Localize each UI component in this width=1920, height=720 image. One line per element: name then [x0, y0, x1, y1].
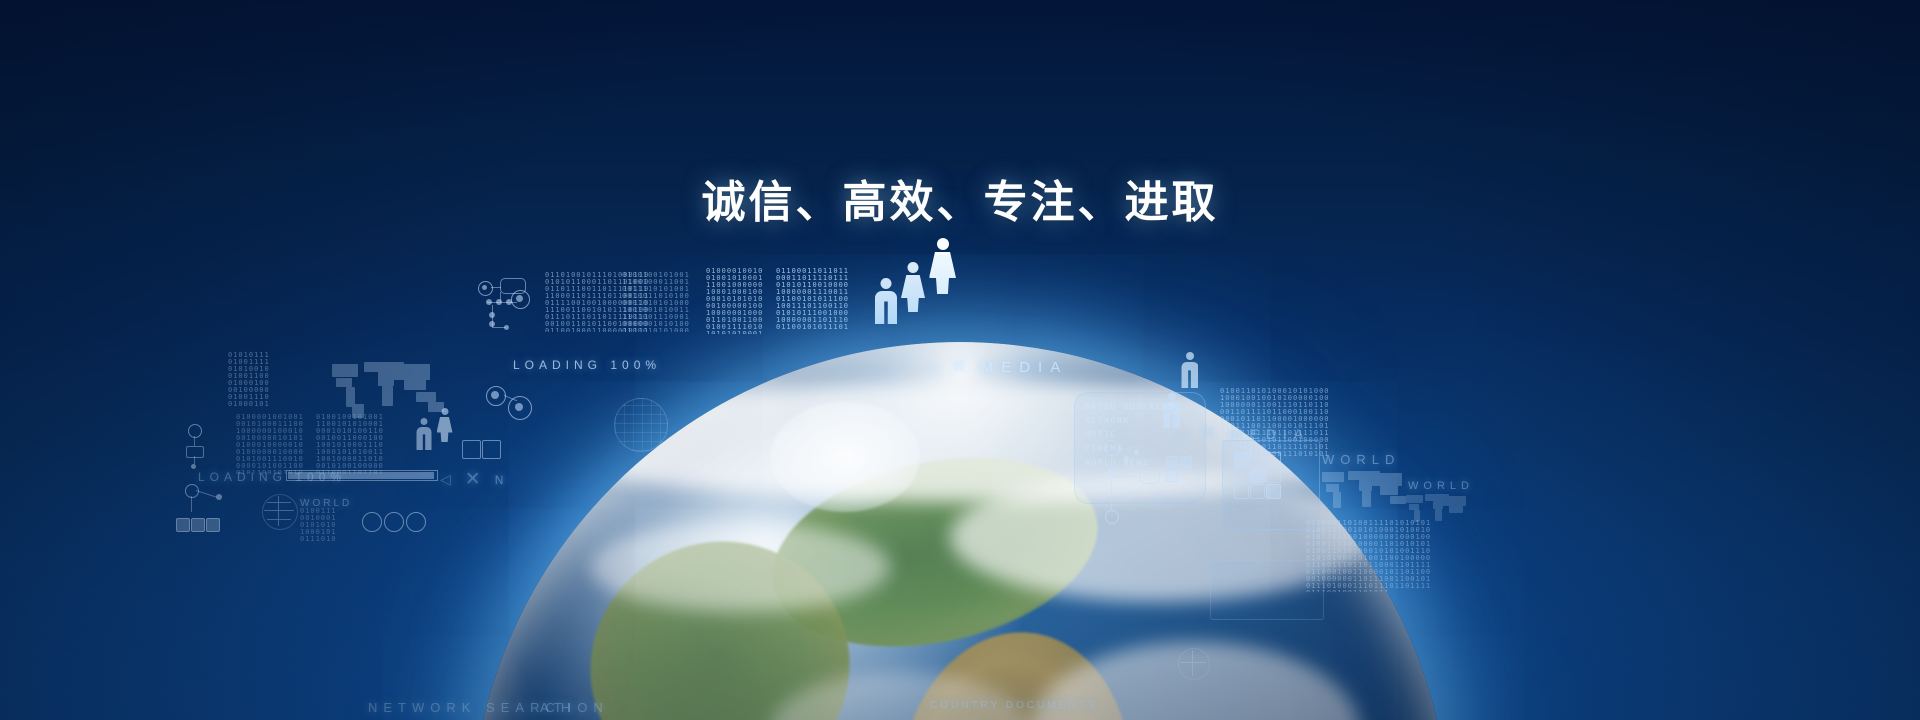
node-link: [491, 287, 501, 288]
search-icon: [362, 512, 382, 532]
close-icon: ✕: [465, 468, 486, 491]
panel-line-5: WORLD NEWS: [1085, 458, 1195, 467]
node-dot: [491, 391, 499, 399]
refresh-icon: [384, 512, 404, 532]
data-block-left-1: 0101011101001111010100100100110001000100…: [228, 352, 274, 408]
tile-cell: [1234, 468, 1249, 483]
node-link: [194, 436, 195, 446]
data-block-top-3: 0100001001001001010001110010000001000100…: [706, 268, 768, 334]
world-map-left: [330, 358, 450, 420]
node-link: [1111, 476, 1141, 477]
tile-icon: [482, 440, 501, 459]
data-block-left-4: 0100111001000101010101000101011101001111…: [300, 508, 340, 542]
node-link: [194, 456, 195, 464]
person-body: [417, 427, 432, 450]
world-map-right-2: [1404, 492, 1476, 530]
node-dot: [191, 464, 196, 469]
tile-cell: [1250, 468, 1265, 483]
node-dot: [496, 299, 502, 305]
tile-cell: [1266, 468, 1281, 483]
square-icon: [176, 518, 190, 532]
node-chip: [186, 446, 204, 458]
page-title: 诚信、高效、专注、进取: [0, 166, 1920, 230]
info-panel-small-right[interactable]: [1210, 560, 1324, 620]
tile-cell: [1250, 484, 1265, 499]
person-head: [441, 408, 448, 415]
node-circle: [1105, 510, 1119, 524]
world-label-right-1: WORLD: [1322, 452, 1400, 467]
person-body: [437, 417, 453, 442]
person-body: [1181, 362, 1198, 388]
square-icon: [206, 518, 220, 532]
close-icon: ✕: [1201, 422, 1222, 445]
world-map-right: [1320, 468, 1416, 518]
person-body: [901, 275, 925, 312]
node-circle: [188, 424, 202, 438]
progress-bar: [286, 470, 438, 481]
person-4: [416, 418, 432, 450]
node-dot: [482, 285, 487, 290]
data-block-left-3: 0100100101001110010101000100010101001100…: [316, 414, 386, 474]
media-tag-top: ◁ ✕ MEDIA: [926, 356, 1068, 379]
node-dot: [515, 403, 523, 411]
node-chip: [1140, 470, 1160, 484]
node-link: [191, 496, 192, 512]
person-body: [875, 291, 897, 324]
country-documents-label: COUNTRY DOCUMENTS: [930, 700, 1097, 711]
square-icon: [191, 518, 205, 532]
node-tile: [1166, 470, 1178, 482]
tile-cell: [1250, 452, 1265, 467]
person-head: [937, 238, 949, 250]
play-icon: ◁: [926, 359, 942, 376]
node-dot: [1124, 456, 1129, 461]
wireframe-globe-icon: [614, 398, 668, 452]
person-3: [928, 238, 957, 294]
progress-bar-fill: [288, 472, 434, 479]
node-circle: [1104, 440, 1120, 456]
node-link: [196, 490, 217, 498]
person-head: [421, 418, 428, 425]
loading-label-top: LOADING 100%: [513, 358, 661, 372]
node-dot: [216, 494, 222, 500]
play-icon: ◁: [440, 471, 456, 488]
data-block-bottom-1: [1230, 630, 1380, 690]
panel-line-1: BAIDU BUSINESS: [1085, 402, 1195, 411]
world-label-right-2: WORLD: [1408, 480, 1474, 492]
world-map-bottom-left: [262, 494, 296, 528]
person-1: [874, 278, 898, 324]
power-icon: [406, 512, 426, 532]
data-block-left-2: 0100001001001001010001110010000001000100…: [236, 414, 306, 474]
tile-cell: [1266, 452, 1281, 467]
person-2: [900, 262, 926, 312]
network-search-label-2: ATION: [540, 700, 609, 715]
node-tile: [1180, 456, 1192, 468]
node-dot: [489, 312, 495, 318]
person-head: [1186, 352, 1194, 360]
person-head: [881, 278, 892, 289]
person-body: [929, 252, 956, 294]
node-link: [1111, 454, 1112, 470]
tile-cell: [1234, 452, 1249, 467]
node-dot: [1134, 450, 1139, 455]
node-dot: [504, 325, 509, 330]
info-panel-right[interactable]: BAIDU BUSINESS NETWORK MUSIC CINEMA WORL…: [1074, 392, 1206, 504]
data-block-top-4: 0110001101101100011011110111010101100100…: [776, 268, 854, 330]
data-block-top-2: 0100100101001110010001100100111101010010…: [622, 272, 694, 332]
tile-cell: [1234, 484, 1249, 499]
media-left-label: N: [495, 473, 509, 487]
tile-icon: [462, 440, 481, 459]
world-map-bottom-right: [1178, 648, 1208, 678]
panel-line-4: CINEMA: [1085, 444, 1195, 453]
node-dot: [516, 295, 523, 302]
media-tag-left: ◁ ✕ N: [440, 468, 508, 491]
media-top-label: MEDIA: [981, 359, 1069, 376]
banner-stage: 诚信、高效、专注、进取 0110100101110100011001010110…: [0, 0, 1920, 720]
close-icon: ✕: [951, 356, 972, 379]
tile-cell: [1266, 484, 1281, 499]
person-head: [908, 262, 919, 273]
play-icon: ◁: [1176, 425, 1192, 442]
node-link: [1111, 482, 1112, 510]
node-tile: [1166, 456, 1178, 468]
person-5: [436, 408, 453, 442]
data-block-right-2: 0100001101001111010101010100111001010100…: [1306, 520, 1436, 592]
person-6: [1180, 352, 1199, 388]
